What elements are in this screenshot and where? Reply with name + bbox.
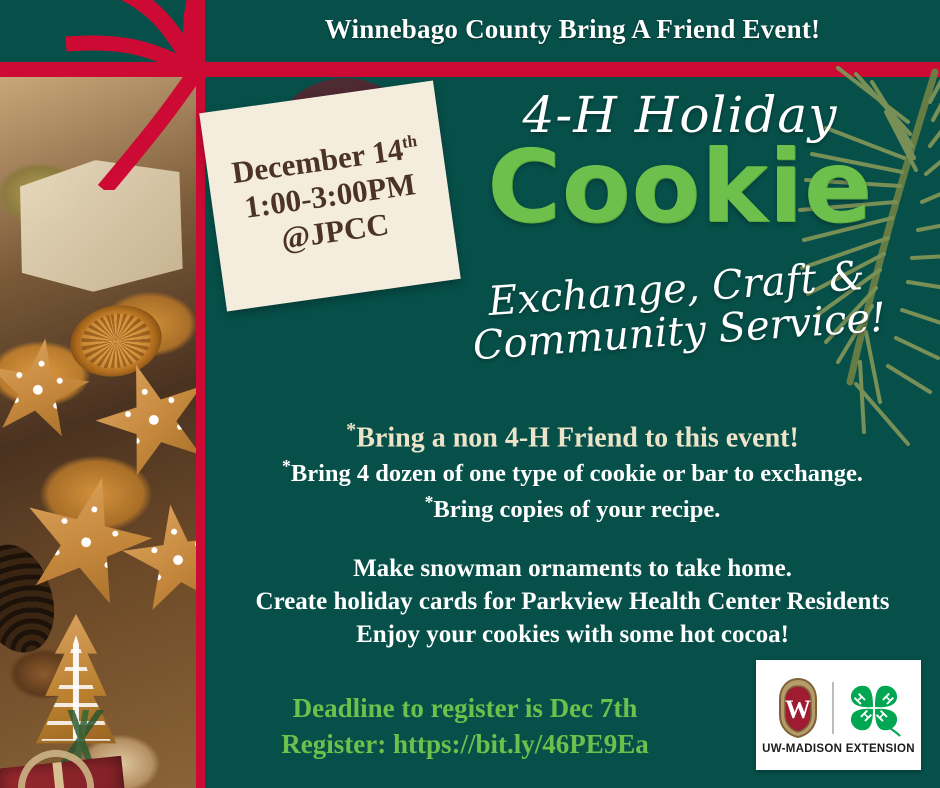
flyer-canvas: Winnebago County Bring A Friend Event! D… <box>0 0 940 788</box>
left-divider-bar-top <box>196 0 205 62</box>
registration-block: Deadline to register is Dec 7th Register… <box>205 690 725 762</box>
headline-block: 4-H Holiday Cookie <box>430 86 930 234</box>
instruction-line-1-text: Bring a non 4-H Friend to this event! <box>356 422 799 453</box>
crest-letter: W <box>785 695 811 724</box>
activity-line-1: Make snowman ornaments to take home. <box>205 552 940 585</box>
instruction-line-2: *Bring 4 dozen of one type of cookie or … <box>205 455 940 490</box>
uw-madison-extension-logo: W H H H H UW-MADISON EXTENSION <box>756 660 921 770</box>
instruction-line-3-text: Bring copies of your recipe. <box>433 496 720 523</box>
registration-link[interactable]: Register: https://bit.ly/46PE9Ea <box>205 726 725 762</box>
headline-feature-word: Cookie <box>430 140 930 234</box>
logo-marks: W H H H H <box>774 675 904 741</box>
subheadline-block: Exchange, Craft & Community Service! <box>416 250 940 372</box>
activity-line-2: Create holiday cards for Parkview Health… <box>205 585 940 618</box>
pine-sprig-icon <box>6 710 156 766</box>
instruction-line-2-text: Bring 4 dozen of one type of cookie or b… <box>291 461 863 488</box>
instructions-block: *Bring a non 4-H Friend to this event! *… <box>205 418 940 526</box>
date-card: December 14th 1:00-3:00PM @JPCC <box>199 81 461 312</box>
logo-caption: UW-MADISON EXTENSION <box>762 743 915 755</box>
four-h-clover-icon: H H H H <box>844 679 904 737</box>
page-title: Winnebago County Bring A Friend Event! <box>205 14 940 45</box>
activities-block: Make snowman ornaments to take home. Cre… <box>205 552 940 651</box>
date-ordinal-suffix: th <box>401 131 419 152</box>
cookie-photo <box>0 74 196 788</box>
uw-crest-icon: W <box>774 677 822 739</box>
instruction-line-3: *Bring copies of your recipe. <box>205 491 940 526</box>
logo-divider <box>832 682 834 734</box>
registration-deadline: Deadline to register is Dec 7th <box>205 690 725 726</box>
asterisk-marker: * <box>282 456 291 476</box>
left-divider-bar <box>196 62 205 788</box>
asterisk-marker: * <box>346 419 356 441</box>
instruction-line-1: *Bring a non 4-H Friend to this event! <box>205 418 940 455</box>
top-ribbon-bar <box>0 62 940 77</box>
activity-line-3: Enjoy your cookies with some hot cocoa! <box>205 618 940 651</box>
